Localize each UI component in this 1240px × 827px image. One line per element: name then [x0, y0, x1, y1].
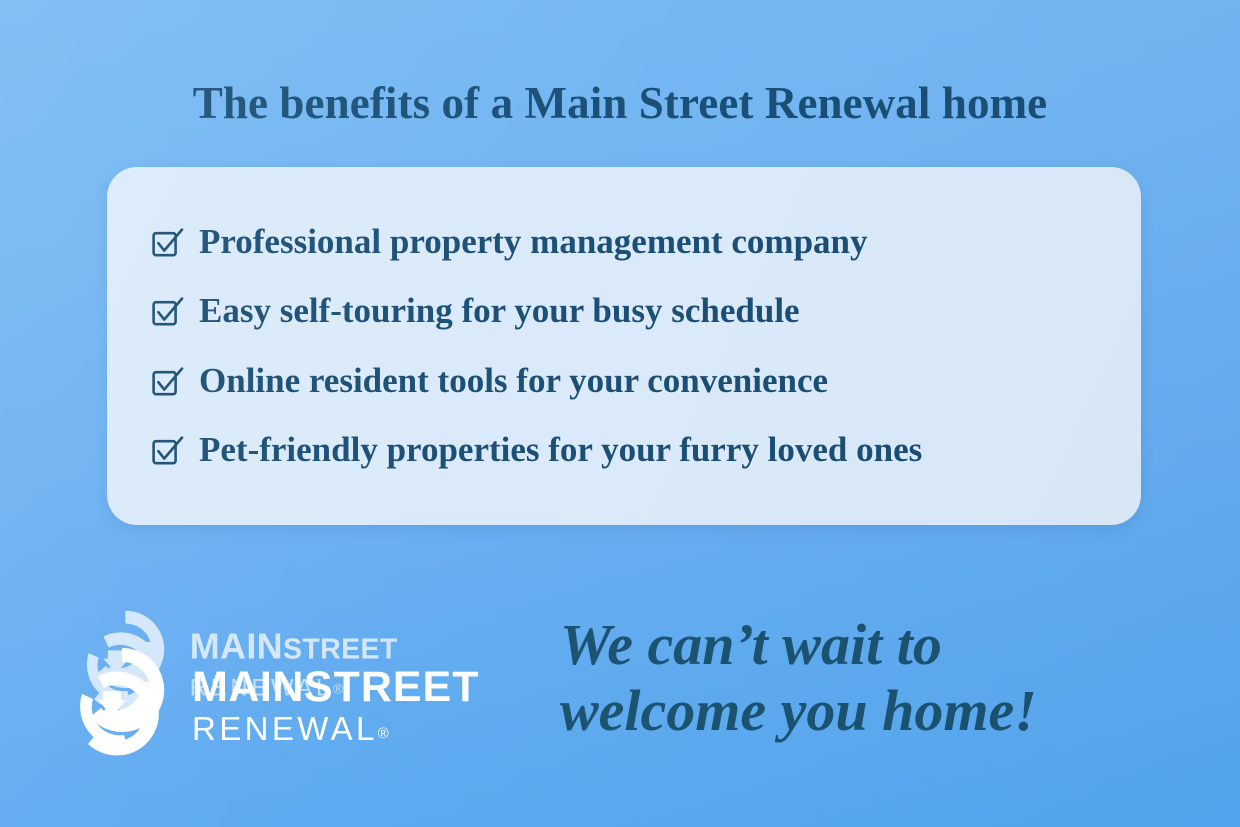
page-title: The benefits of a Main Street Renewal ho… — [0, 74, 1240, 132]
list-item: Pet-friendly properties for your furry l… — [147, 416, 1141, 486]
list-item: Online resident tools for your convenien… — [147, 346, 1141, 416]
list-item-label: Professional property management company — [199, 222, 868, 262]
tagline: We can’t wait to welcome you home! — [560, 612, 1180, 744]
benefits-list: Professional property management company… — [107, 167, 1141, 525]
brand-word-main: MAIN — [192, 663, 304, 711]
brand-logo: MAINSTREET RENEWAL® — [52, 625, 522, 790]
brand-word-street: STREET — [304, 663, 480, 711]
brand-logo-wordmark-group: MAINSTREET RENEWAL® — [192, 663, 480, 753]
checked-checkbox-icon — [151, 226, 185, 260]
tagline-line-2: welcome you home! — [560, 678, 1180, 744]
list-item-label: Easy self-touring for your busy schedule — [199, 291, 800, 331]
list-item-label: Pet-friendly properties for your furry l… — [199, 430, 922, 470]
brand-subword-line: RENEWAL® — [192, 710, 480, 753]
checked-checkbox-icon — [151, 365, 185, 399]
tagline-line-1: We can’t wait to — [560, 612, 1180, 678]
list-item: Professional property management company — [147, 207, 1141, 277]
checked-checkbox-icon — [151, 295, 185, 329]
benefits-card: Professional property management company… — [107, 167, 1141, 525]
checked-checkbox-icon — [151, 434, 185, 468]
brand-wordmark-line: MAINSTREET — [192, 665, 480, 710]
promo-poster: The benefits of a Main Street Renewal ho… — [0, 0, 1240, 827]
list-item: Easy self-touring for your busy schedule — [147, 277, 1141, 347]
list-item-label: Online resident tools for your convenien… — [199, 361, 828, 401]
brand-logo-primary-copy: MAINSTREET RENEWAL® — [52, 625, 522, 790]
brand-word-renewal: RENEWAL — [192, 710, 378, 747]
main-street-renewal-swirl-mark — [52, 642, 184, 774]
registered-trademark-icon: ® — [378, 725, 389, 742]
